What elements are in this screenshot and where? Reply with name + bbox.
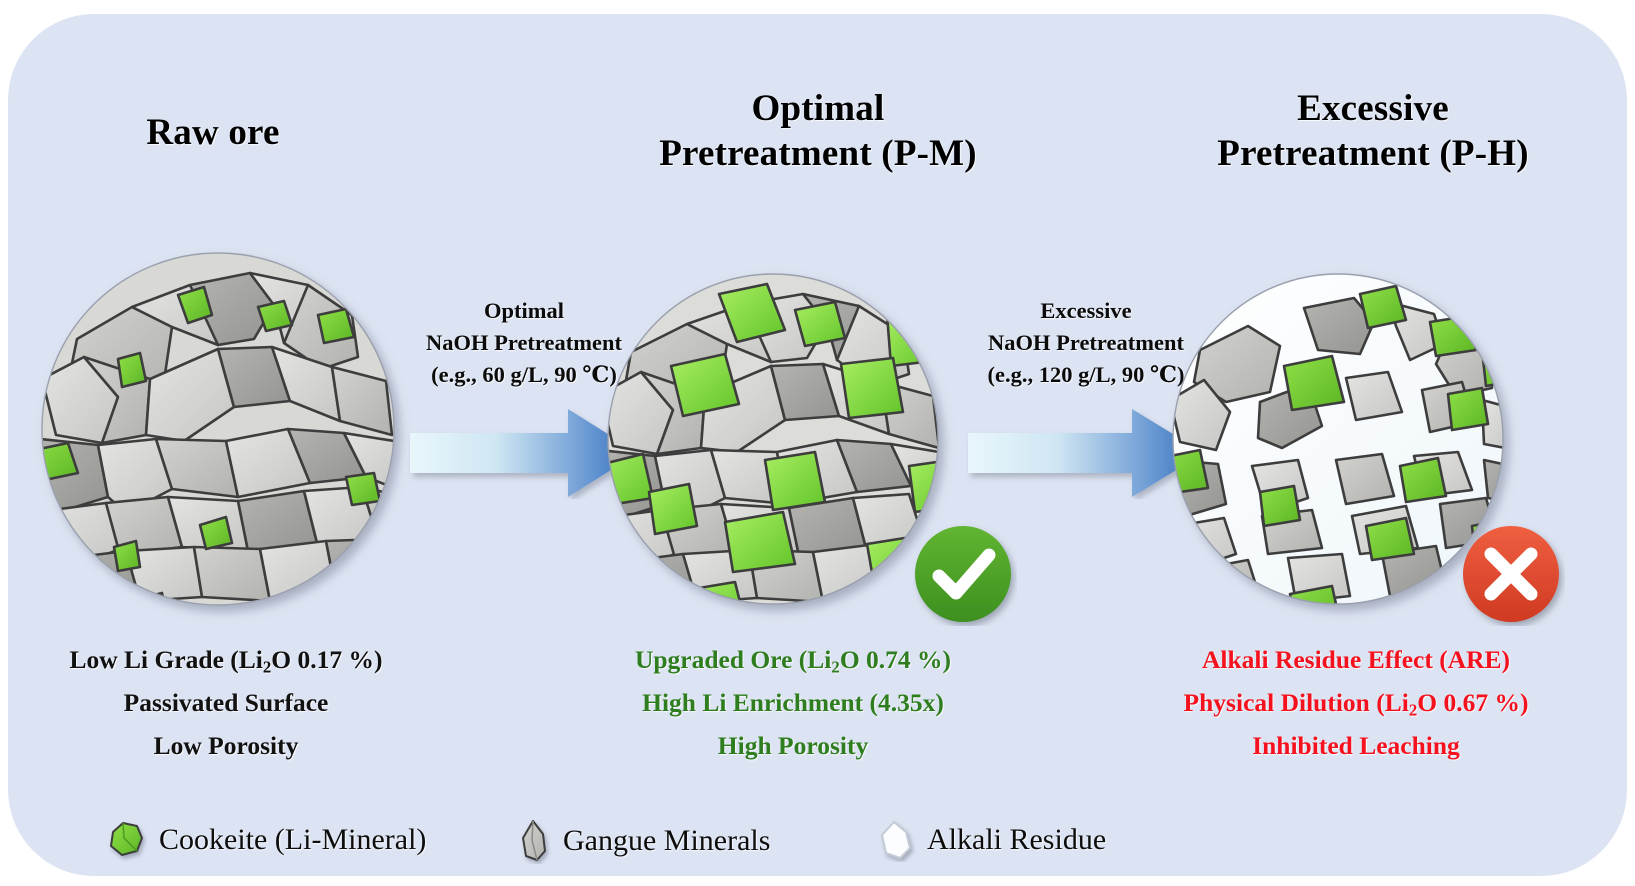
caption-text: Upgraded Ore (Li [635,645,831,674]
caption-line: High Porosity [593,725,993,768]
legend-label: Cookeite (Li-Mineral) [159,823,426,857]
title-line-2: Pretreatment (P-M) [608,131,1028,176]
legend-item-residue: Alkali Residue [876,818,1106,862]
legend-item-cookeite: Cookeite (Li-Mineral) [104,818,426,862]
caption-line: Upgraded Ore (Li2O 0.74 %) [593,639,993,682]
caption-text: O 0.74 %) [840,645,951,674]
check-badge [913,522,1017,626]
title-line-1: Optimal [608,86,1028,131]
caption-line: Low Porosity [26,725,426,768]
title-line-1: Excessive [1163,86,1583,131]
caption-line: Low Li Grade (Li2O 0.17 %) [26,639,426,682]
caption-subscript: 2 [831,657,839,676]
green-mineral-icon [104,818,148,862]
caption-subscript: 2 [1409,700,1417,719]
title-line-2: Pretreatment (P-H) [1163,131,1583,176]
gray-mineral-icon [518,818,552,864]
caption-line: High Li Enrichment (4.35x) [593,682,993,725]
column-title-optimal: Optimal Pretreatment (P-M) [608,86,1028,176]
caption-text: O 0.17 %) [271,645,382,674]
caption-line: Alkali Residue Effect (ARE) [1156,639,1556,682]
legend-label: Gangue Minerals [563,824,770,858]
diagram-panel: Raw ore Optimal Pretreatment (P-M) Exces… [8,14,1627,876]
column-title-raw-ore: Raw ore [48,110,378,155]
caption-text: O 0.67 %) [1417,688,1528,717]
legend-item-gangue: Gangue Minerals [518,818,770,864]
legend-label: Alkali Residue [927,823,1106,857]
title-line-1: Raw ore [48,110,378,155]
ore-particle-optimal [591,254,961,624]
cross-badge [1461,522,1565,626]
column-title-excessive: Excessive Pretreatment (P-H) [1163,86,1583,176]
white-residue-icon [876,818,916,862]
caption-text: Physical Dilution (Li [1184,688,1409,717]
caption-line: Passivated Surface [26,682,426,725]
caption-line: Physical Dilution (Li2O 0.67 %) [1156,682,1556,725]
caption-optimal: Upgraded Ore (Li2O 0.74 %) High Li Enric… [593,639,993,767]
legend: Cookeite (Li-Mineral) Gangue Minerals Al… [104,812,1104,876]
caption-text: Low Li Grade (Li [69,645,262,674]
caption-excessive: Alkali Residue Effect (ARE) Physical Dil… [1156,639,1556,767]
caption-line: Inhibited Leaching [1156,725,1556,768]
ore-particle-raw [22,229,422,629]
caption-raw-ore: Low Li Grade (Li2O 0.17 %) Passivated Su… [26,639,426,767]
